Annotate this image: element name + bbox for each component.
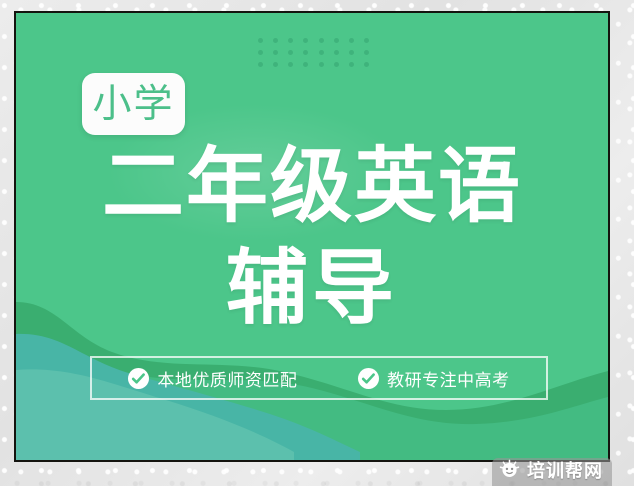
stage-tag-badge: 小学: [82, 73, 185, 135]
dot-grid-decoration: [253, 34, 374, 71]
grid-dot: [303, 38, 308, 43]
feature-label-2: 教研专注中高考: [387, 366, 510, 391]
grid-dot: [273, 38, 278, 43]
headline-line-2: 辅导: [226, 248, 398, 330]
watermark-text: 培训帮网: [527, 463, 603, 481]
check-circle-icon: [358, 368, 379, 389]
sun-face-icon: [499, 459, 520, 485]
grid-dot: [288, 50, 293, 55]
feature-item-2: 教研专注中高考: [358, 366, 510, 391]
grid-dot: [303, 50, 308, 55]
grid-dot: [303, 62, 308, 67]
grid-dot: [288, 62, 293, 67]
grid-dot: [273, 62, 278, 67]
headline-line-1: 二年级英语: [102, 146, 522, 228]
grid-dot: [288, 38, 293, 43]
feature-item-1: 本地优质师资匹配: [128, 366, 297, 391]
grid-dot: [364, 62, 369, 67]
grid-dot: [334, 62, 339, 67]
site-watermark: 培训帮网: [492, 458, 612, 486]
feature-bar: 本地优质师资匹配 教研专注中高考: [90, 356, 548, 400]
grid-dot: [273, 50, 278, 55]
grid-dot: [349, 50, 354, 55]
grid-dot: [349, 62, 354, 67]
feature-label-1: 本地优质师资匹配: [157, 366, 297, 391]
grid-dot: [364, 50, 369, 55]
grid-dot: [334, 38, 339, 43]
grid-dot: [319, 50, 324, 55]
grid-dot: [349, 38, 354, 43]
grid-dot: [334, 50, 339, 55]
grid-dot: [319, 62, 324, 67]
poster-card: 小学 二年级英语 辅导 本地优质师资匹配 教研专注中高考: [14, 11, 610, 462]
stage-tag-label: 小学: [92, 85, 174, 124]
grid-dot: [258, 50, 263, 55]
check-circle-icon: [128, 368, 149, 389]
grid-dot: [364, 38, 369, 43]
grid-dot: [258, 38, 263, 43]
grid-dot: [258, 62, 263, 67]
grid-dot: [319, 38, 324, 43]
